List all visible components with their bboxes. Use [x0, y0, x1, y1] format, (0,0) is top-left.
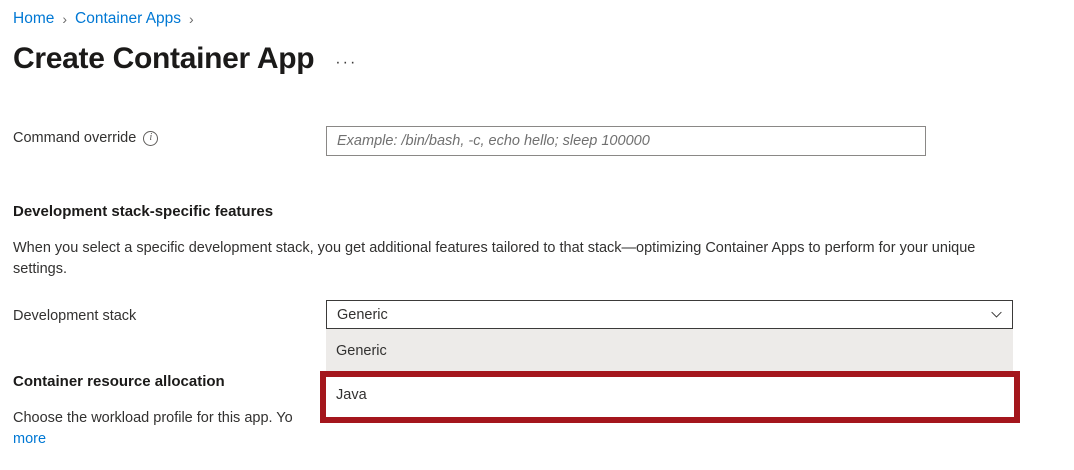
resource-allocation-description: Choose the workload profile for this app…	[13, 408, 313, 429]
breadcrumb-separator-icon: ›	[62, 8, 67, 30]
chevron-down-icon	[990, 308, 1003, 321]
breadcrumb-item-container-apps[interactable]: Container Apps	[75, 8, 181, 30]
development-stack-selected-value: Generic	[337, 305, 990, 325]
breadcrumb-item-home[interactable]: Home	[13, 8, 54, 30]
command-override-input[interactable]	[326, 126, 926, 156]
title-row: Create Container App ···	[13, 40, 357, 78]
info-icon[interactable]: i	[143, 131, 158, 146]
dropdown-option-label: Java	[336, 387, 367, 403]
learn-more-link[interactable]: more	[13, 431, 46, 447]
dropdown-option-label: Generic	[336, 343, 387, 359]
development-stack-label: Development stack	[13, 306, 136, 326]
resource-allocation-learn-more-link: more	[13, 429, 46, 450]
breadcrumb-separator-icon: ›	[189, 8, 194, 30]
resource-allocation-heading: Container resource allocation	[13, 372, 225, 392]
development-stack-combobox[interactable]: Generic	[326, 300, 1013, 329]
dev-stack-section-heading: Development stack-specific features	[13, 202, 273, 222]
create-container-app-page: Home › Container Apps › Create Container…	[0, 0, 1074, 470]
command-override-label-text: Command override	[13, 128, 136, 148]
command-override-label: Command override i	[13, 128, 158, 148]
dropdown-option-java[interactable]: Java	[326, 373, 1013, 417]
breadcrumb: Home › Container Apps ›	[13, 8, 202, 30]
more-options-icon[interactable]: ···	[335, 55, 357, 71]
development-stack-label-text: Development stack	[13, 306, 136, 326]
dropdown-option-generic[interactable]: Generic	[326, 329, 1013, 373]
page-title: Create Container App	[13, 40, 314, 78]
dev-stack-section-description: When you select a specific development s…	[13, 238, 1013, 280]
development-stack-dropdown-list: Generic Java	[326, 329, 1013, 417]
